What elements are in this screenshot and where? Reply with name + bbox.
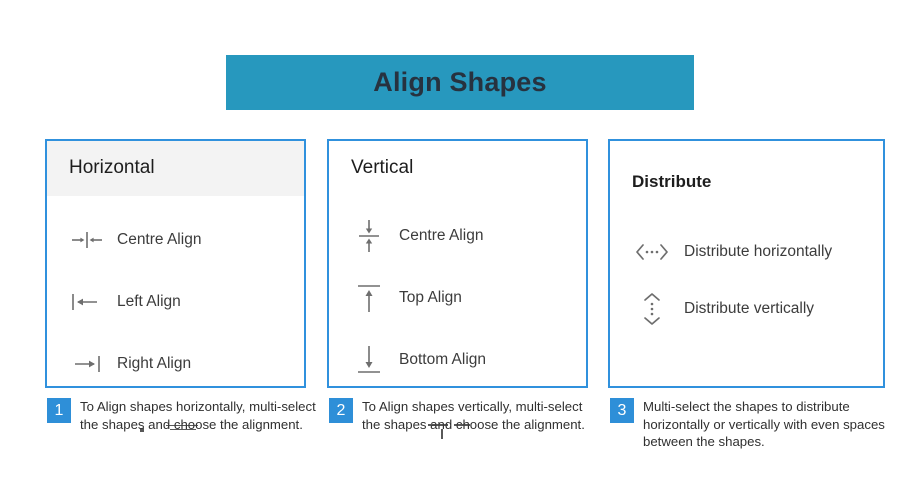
- card-distribute: Distribute Distribute horizontally: [608, 139, 885, 388]
- align-option-label: Left Align: [117, 293, 181, 311]
- page-title: Align Shapes: [373, 67, 546, 98]
- align-option-centre-vertical[interactable]: Centre Align: [329, 205, 586, 267]
- distribute-option-vertical[interactable]: Distribute vertically: [610, 280, 883, 337]
- card-title-horizontal: Horizontal: [69, 157, 155, 179]
- distribute-option-list: Distribute horizontally Distribute verti…: [610, 223, 883, 337]
- card-vertical: Vertical Centre Align: [327, 139, 588, 388]
- caption-text: Multi-select the shapes to distribute ho…: [643, 398, 890, 451]
- caption-text-value: To Align shapes horizontally, multi-sele…: [80, 399, 316, 432]
- card-horizontal: Horizontal Centre Align: [45, 139, 306, 388]
- distribute-horizontal-icon: [630, 233, 674, 271]
- align-top-icon: [347, 279, 391, 317]
- distribute-vertical-icon: [630, 290, 674, 328]
- align-option-label: Bottom Align: [399, 351, 486, 369]
- title-banner: Align Shapes: [226, 55, 694, 110]
- artifact-mark: [454, 424, 470, 426]
- align-option-label: Right Align: [117, 355, 191, 373]
- distribute-option-label: Distribute horizontally: [684, 243, 832, 261]
- card-title-vertical: Vertical: [351, 157, 413, 179]
- align-option-label: Centre Align: [117, 231, 201, 249]
- align-option-centre-horizontal[interactable]: Centre Align: [47, 209, 304, 271]
- artifact-mark: [441, 429, 443, 439]
- card-title-distribute: Distribute: [632, 172, 711, 192]
- align-left-icon: [65, 283, 109, 321]
- caption-text: To Align shapes horizontally, multi-sele…: [80, 398, 317, 433]
- artifact-mark: [166, 425, 198, 426]
- caption-badge: 2: [329, 398, 353, 423]
- caption-1: 1 To Align shapes horizontally, multi-se…: [47, 398, 317, 433]
- caption-2: 2 To Align shapes vertically, multi-sele…: [329, 398, 599, 433]
- align-option-label: Top Align: [399, 289, 462, 307]
- align-option-left[interactable]: Left Align: [47, 271, 304, 333]
- caption-text-value: Multi-select the shapes to distribute ho…: [643, 399, 885, 449]
- align-option-top[interactable]: Top Align: [329, 267, 586, 329]
- caption-text-value: To Align shapes vertically, multi-select…: [362, 399, 585, 432]
- caption-3: 3 Multi-select the shapes to distribute …: [610, 398, 890, 451]
- artifact-mark: [428, 424, 448, 426]
- align-option-label: Centre Align: [399, 227, 483, 245]
- align-option-right[interactable]: Right Align: [47, 333, 304, 395]
- caption-badge: 3: [610, 398, 634, 423]
- caption-badge: 1: [47, 398, 71, 423]
- align-option-list-horizontal: Centre Align Left Align: [47, 209, 304, 395]
- distribute-option-horizontal[interactable]: Distribute horizontally: [610, 223, 883, 280]
- caption-text: To Align shapes vertically, multi-select…: [362, 398, 599, 433]
- distribute-option-label: Distribute vertically: [684, 300, 814, 318]
- align-option-bottom[interactable]: Bottom Align: [329, 329, 586, 391]
- artifact-mark: [140, 428, 144, 432]
- align-right-icon: [65, 345, 109, 383]
- align-option-list-vertical: Centre Align Top Align: [329, 205, 586, 391]
- artifact-mark: [170, 429, 196, 430]
- align-centre-vertical-icon: [347, 217, 391, 255]
- align-bottom-icon: [347, 341, 391, 379]
- align-centre-horizontal-icon: [65, 221, 109, 259]
